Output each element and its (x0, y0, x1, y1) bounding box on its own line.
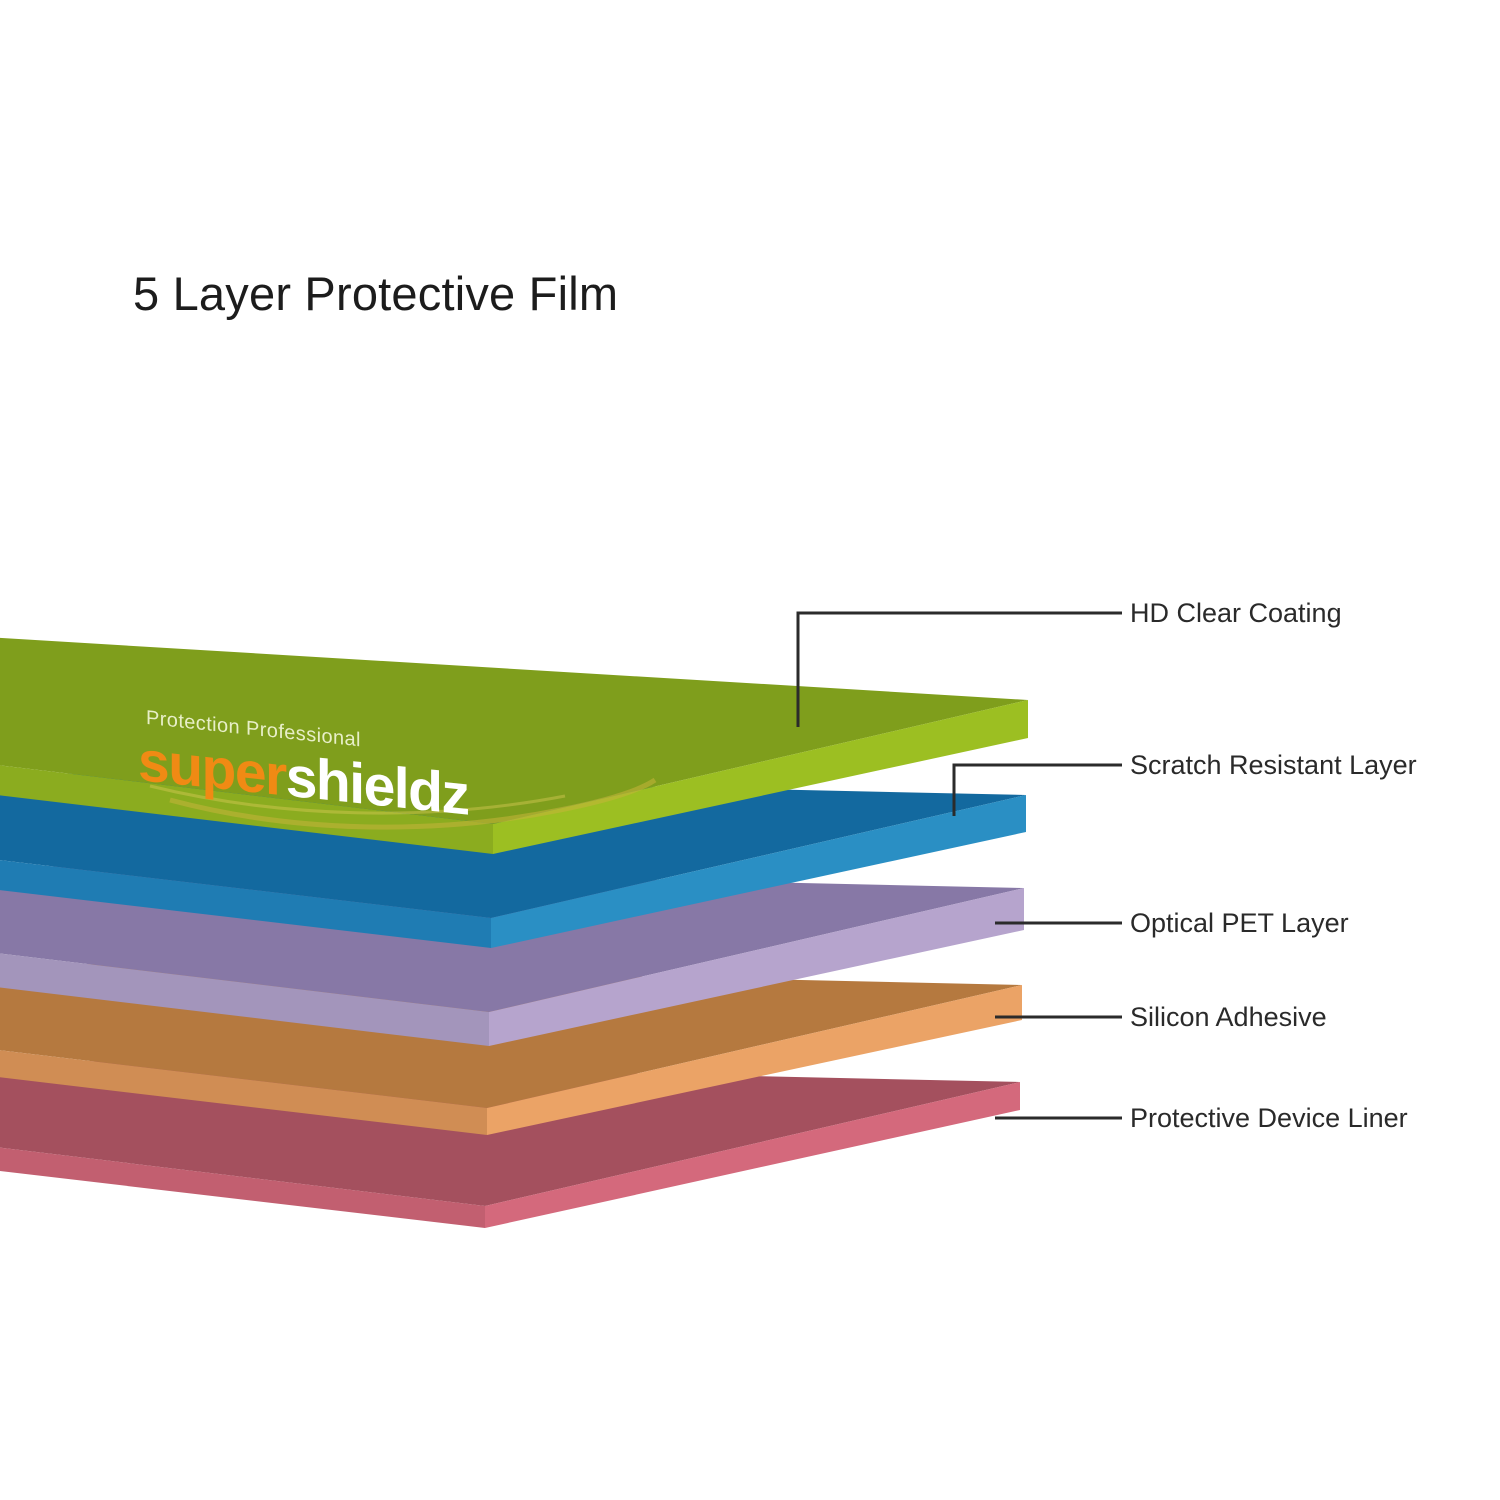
label-optical-pet-layer: Optical PET Layer (1130, 908, 1349, 939)
label-silicon-adhesive: Silicon Adhesive (1130, 1002, 1327, 1033)
label-hd-clear-coating: HD Clear Coating (1130, 598, 1342, 629)
diagram-page: 5 Layer Protective Film (0, 0, 1500, 1500)
label-protective-device-liner: Protective Device Liner (1130, 1103, 1408, 1134)
label-scratch-resistant-layer: Scratch Resistant Layer (1130, 750, 1417, 781)
